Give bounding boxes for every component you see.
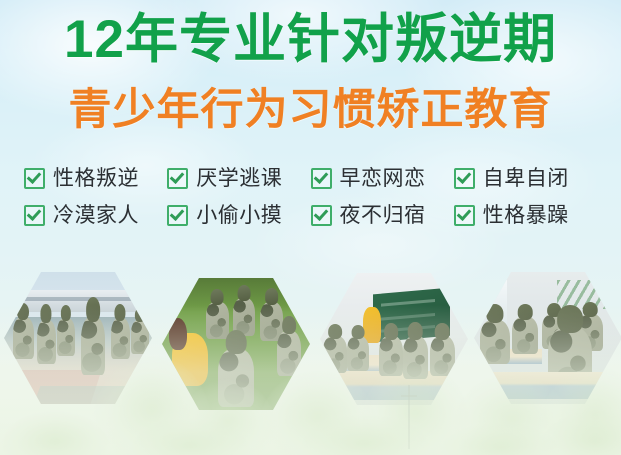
scene-building [16, 290, 149, 311]
scene-desk [492, 372, 610, 398]
bush-silhouette [300, 415, 430, 455]
photo-classroom-writing[interactable] [474, 272, 621, 404]
photo-scene [162, 278, 310, 410]
bush-silhouette [440, 423, 560, 455]
scene-trainee-figure [206, 302, 228, 339]
photo-scene [474, 272, 621, 404]
checkbox-checked-icon[interactable] [311, 205, 332, 226]
scene-trainee-figure [131, 320, 149, 354]
checklist-item-label: 早恋网恋 [340, 167, 426, 191]
photo-scene [320, 273, 468, 405]
scene-instructor-figure [81, 317, 105, 375]
scene-trainee-figure [277, 331, 301, 376]
checkbox-checked-icon[interactable] [454, 205, 475, 226]
checkbox-checked-icon[interactable] [167, 168, 188, 189]
photo-scene [4, 272, 152, 404]
checklist-item-label: 小偷小摸 [196, 204, 282, 228]
scene-student-figure [403, 336, 428, 378]
checkbox-checked-icon[interactable] [311, 168, 332, 189]
promo-banner: 12年专业针对叛逆期 青少年行为习惯矫正教育 性格叛逆 厌学逃课 早恋网恋 自卑… [0, 0, 621, 455]
checklist-item[interactable]: 厌学逃课 [167, 167, 310, 191]
scene-trainee-figure [57, 318, 75, 356]
checklist-item-label: 性格暴躁 [483, 204, 569, 228]
scene-student-figure [512, 317, 537, 354]
checklist-item[interactable]: 小偷小摸 [167, 204, 310, 228]
scene-trainee-figure [13, 317, 34, 359]
checkbox-checked-icon[interactable] [24, 168, 45, 189]
scene-student-figure [480, 320, 510, 365]
bush-silhouette [130, 419, 250, 455]
scene-student-figure [379, 336, 403, 376]
checklist-item-label: 自卑自闭 [483, 167, 569, 191]
checklist-item[interactable]: 早恋网恋 [311, 167, 454, 191]
checklist-item[interactable]: 冷漠家人 [24, 204, 167, 228]
checkbox-checked-icon[interactable] [167, 205, 188, 226]
checklist-item-label: 冷漠家人 [53, 204, 139, 228]
photo-grass-group-counseling[interactable] [162, 278, 310, 410]
banner-headline: 12年专业针对叛逆期 [0, 8, 621, 72]
checklist-item-label: 夜不归宿 [340, 204, 426, 228]
checklist-item-label: 性格叛逆 [53, 167, 139, 191]
photo-classroom-lesson[interactable] [320, 273, 468, 405]
photo-outdoor-formation-training[interactable] [4, 272, 152, 404]
scene-counselor-figure [172, 333, 208, 386]
banner-subheadline: 青少年行为习惯矫正教育 [0, 84, 621, 136]
checklist-item[interactable]: 自卑自闭 [454, 167, 597, 191]
checkbox-checked-icon[interactable] [454, 168, 475, 189]
scene-student-figure [430, 336, 455, 376]
behavior-issue-checklist: 性格叛逆 厌学逃课 早恋网恋 自卑自闭 冷漠家人 小偷小摸 夜不归宿 [24, 160, 597, 234]
scene-trainee-figure [218, 349, 254, 407]
checklist-item[interactable]: 性格叛逆 [24, 167, 167, 191]
scene-student-figure [323, 336, 347, 373]
checklist-item-label: 厌学逃课 [196, 167, 282, 191]
photo-gallery [0, 262, 621, 412]
scene-student-figure [347, 336, 369, 370]
checklist-item[interactable]: 夜不归宿 [311, 204, 454, 228]
bush-silhouette [540, 411, 621, 455]
bush-silhouette [0, 411, 110, 455]
scene-track-stripe [33, 386, 129, 404]
checklist-item[interactable]: 性格暴躁 [454, 204, 597, 228]
checkbox-checked-icon[interactable] [24, 205, 45, 226]
scene-trainee-figure [37, 320, 56, 365]
scene-trainee-figure [111, 318, 130, 359]
